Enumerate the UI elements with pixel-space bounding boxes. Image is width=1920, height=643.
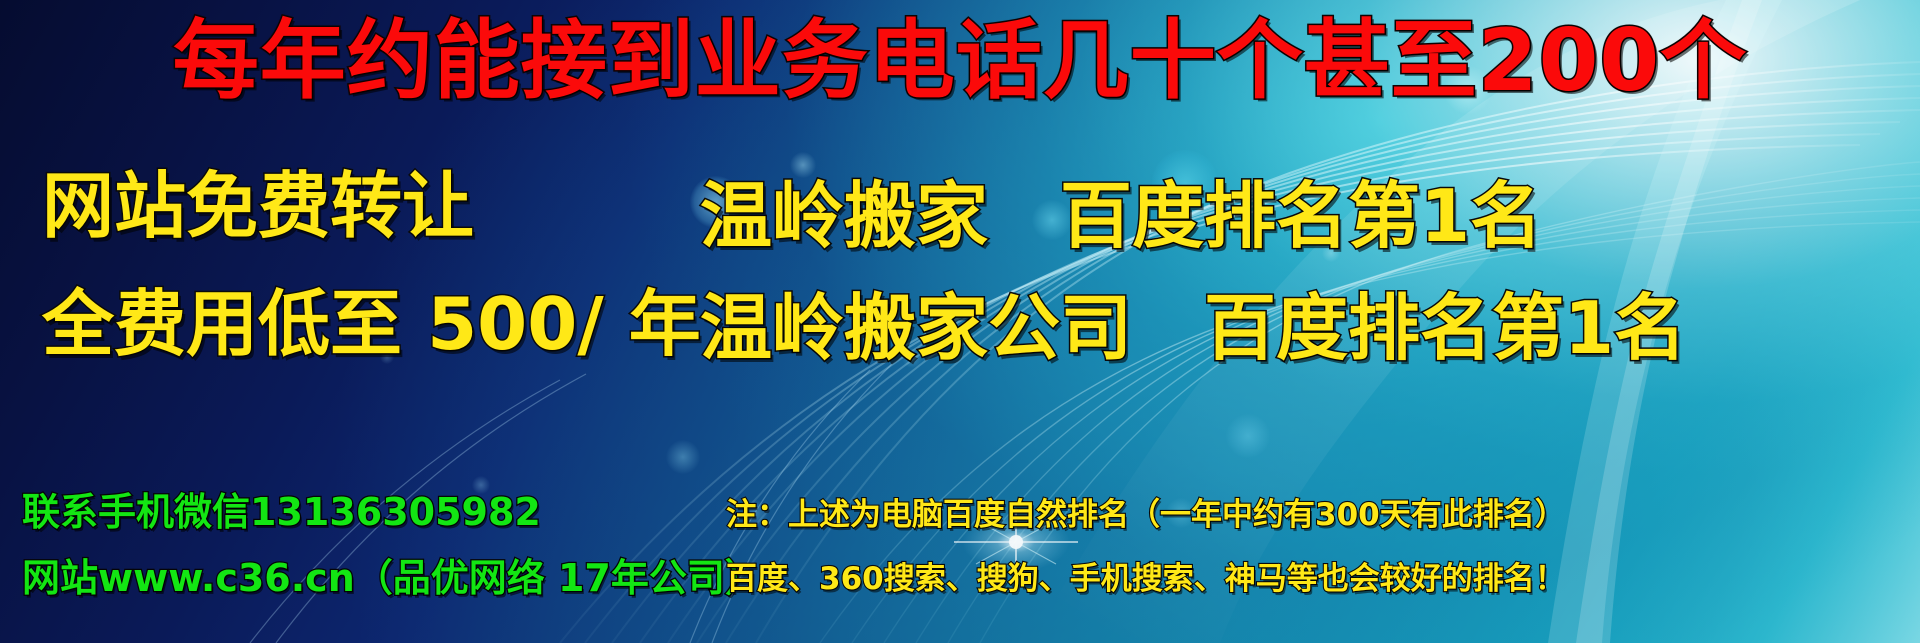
left-offer-line-1: 网站免费转让 <box>42 170 474 242</box>
right-ranking-line-2: 温岭搬家公司 百度排名第1名 <box>700 292 1686 364</box>
right-ranking-line-1: 温岭搬家 百度排名第1名 <box>700 180 1542 252</box>
contact-phone-wechat: 联系手机微信13136305982 <box>22 493 541 531</box>
note-line-1: 注：上述为电脑百度自然排名（一年中约有300天有此排名） <box>726 500 1566 531</box>
contact-website: 网站www.c36.cn（品优网络 17年公司） <box>22 559 763 597</box>
headline-text: 每年约能接到业务电话几十个甚至200个 <box>0 18 1920 104</box>
advertisement-banner: 每年约能接到业务电话几十个甚至200个 网站免费转让 全费用低至 500/ 年 … <box>0 0 1920 643</box>
left-offer-line-2: 全费用低至 500/ 年 <box>42 288 701 360</box>
note-line-2: 百度、360搜索、搜狗、手机搜索、神马等也会较好的排名！ <box>726 564 1566 595</box>
